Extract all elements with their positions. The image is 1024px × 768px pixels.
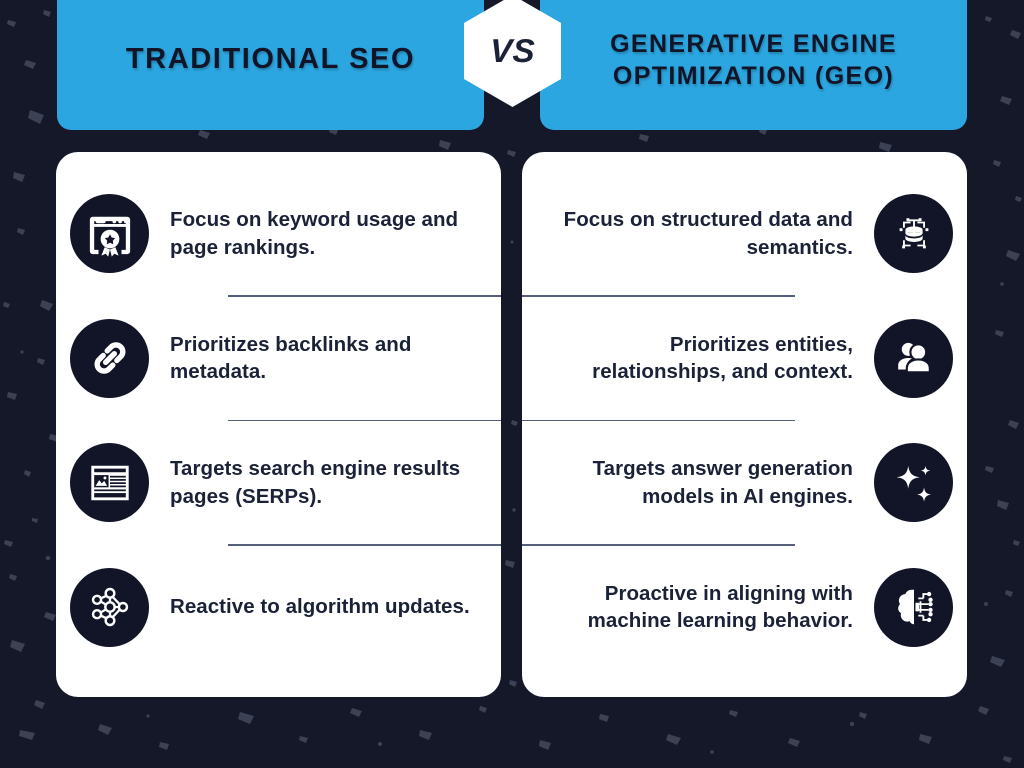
- card-bottom-spacer: [522, 661, 967, 698]
- banner-traditional-seo: TRADITIONAL SEO: [57, 0, 484, 130]
- list-item-label: Focus on structured data and semantics.: [546, 206, 853, 261]
- divider: [228, 420, 501, 422]
- banner-left-title: TRADITIONAL SEO: [116, 41, 425, 78]
- banner-generative-engine-optimization: GENERATIVE ENGINE OPTIMIZATION (GEO): [540, 0, 967, 130]
- structured-database-icon: [874, 194, 953, 273]
- ai-sparkles-icon: [874, 443, 953, 522]
- list-item-label: Prioritizes backlinks and metadata.: [170, 331, 477, 386]
- list-item: Prioritizes backlinks and metadata.: [56, 305, 501, 412]
- browser-award-icon: [70, 194, 149, 273]
- list-item: Reactive to algorithm updates.: [56, 554, 501, 661]
- divider: [228, 295, 501, 297]
- list-item: Prioritizes entities, relationships, and…: [522, 305, 967, 412]
- ai-brain-circuit-icon: [874, 568, 953, 647]
- card-traditional-seo: Focus on keyword usage and page rankings…: [56, 152, 501, 697]
- list-item-label: Proactive in aligning with machine learn…: [546, 580, 853, 635]
- serp-page-icon: [70, 443, 149, 522]
- list-item-label: Targets search engine results pages (SER…: [170, 455, 477, 510]
- banner-right-title: GENERATIVE ENGINE OPTIMIZATION (GEO): [540, 28, 967, 93]
- divider: [228, 544, 501, 546]
- divider: [522, 420, 795, 422]
- list-item: Focus on structured data and semantics.: [522, 180, 967, 287]
- list-item: Proactive in aligning with machine learn…: [522, 554, 967, 661]
- list-item-label: Focus on keyword usage and page rankings…: [170, 206, 477, 261]
- card-generative-engine-optimization: Focus on structured data and semantics.: [522, 152, 967, 697]
- list-item-label: Prioritizes entities, relationships, and…: [546, 331, 853, 386]
- list-item: Focus on keyword usage and page rankings…: [56, 180, 501, 287]
- divider: [522, 295, 795, 297]
- people-entities-icon: [874, 319, 953, 398]
- list-item: Targets search engine results pages (SER…: [56, 429, 501, 536]
- infographic-canvas: TRADITIONAL SEO GENERATIVE ENGINE OPTIMI…: [0, 0, 1024, 768]
- list-item-label: Targets answer generation models in AI e…: [546, 455, 853, 510]
- list-item: Targets answer generation models in AI e…: [522, 429, 967, 536]
- divider: [522, 544, 795, 546]
- card-bottom-spacer: [56, 661, 501, 698]
- chain-link-icon: [70, 319, 149, 398]
- vs-label: VS: [489, 32, 536, 70]
- network-nodes-icon: [70, 568, 149, 647]
- list-item-label: Reactive to algorithm updates.: [170, 593, 477, 620]
